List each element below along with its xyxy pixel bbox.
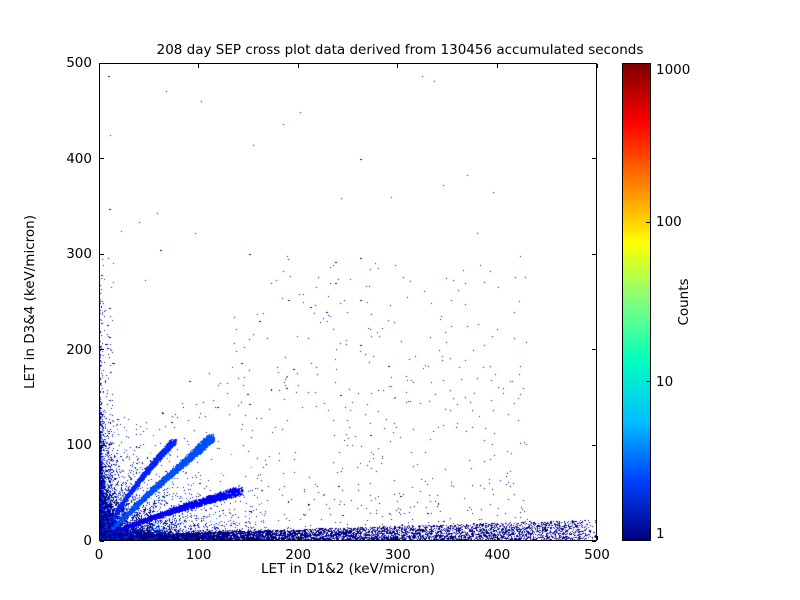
y-tick-mark-right bbox=[592, 63, 596, 64]
x-tick-mark-top bbox=[497, 64, 498, 68]
colorbar[interactable] bbox=[622, 63, 651, 541]
x-axis-label: LET in D1&2 (keV/micron) bbox=[99, 561, 597, 577]
colorbar-tick-label: 1 bbox=[656, 526, 665, 542]
colorbar-gradient bbox=[623, 64, 650, 540]
plot-title-line-1: 208 day SEP cross plot data derived from… bbox=[0, 42, 800, 59]
y-tick-mark bbox=[100, 158, 104, 159]
y-tick-mark bbox=[100, 349, 104, 350]
y-tick-mark-right bbox=[592, 254, 596, 255]
plot-area[interactable] bbox=[99, 63, 597, 541]
x-tick-mark bbox=[497, 536, 498, 540]
x-tick-mark-top bbox=[198, 64, 199, 68]
y-tick-label: 0 bbox=[83, 533, 92, 549]
y-tick-label: 100 bbox=[66, 437, 92, 453]
y-axis-label: LET in D3&4 (keV/micron) bbox=[22, 152, 38, 452]
figure-canvas: 208 day SEP cross plot data derived from… bbox=[0, 0, 800, 600]
colorbar-tick-mark bbox=[646, 381, 650, 382]
x-tick-mark-top bbox=[99, 64, 100, 68]
colorbar-tick-label: 1000 bbox=[656, 62, 690, 78]
y-tick-mark bbox=[100, 254, 104, 255]
y-tick-mark bbox=[100, 63, 104, 64]
y-tick-label: 400 bbox=[66, 151, 92, 167]
scatter-heatmap-layer bbox=[100, 64, 596, 540]
x-tick-mark-top bbox=[597, 64, 598, 68]
x-tick-mark bbox=[597, 536, 598, 540]
colorbar-tick-mark bbox=[646, 222, 650, 223]
x-tick-mark-top bbox=[397, 64, 398, 68]
x-tick-mark bbox=[99, 536, 100, 540]
y-tick-label: 300 bbox=[66, 246, 92, 262]
y-tick-mark-right bbox=[592, 541, 596, 542]
y-tick-mark bbox=[100, 445, 104, 446]
y-tick-mark-right bbox=[592, 349, 596, 350]
x-tick-mark-top bbox=[298, 64, 299, 68]
y-tick-mark bbox=[100, 541, 104, 542]
y-tick-mark-right bbox=[592, 158, 596, 159]
y-tick-mark-right bbox=[592, 445, 596, 446]
y-tick-label: 500 bbox=[66, 55, 92, 71]
colorbar-tick-label: 10 bbox=[656, 374, 673, 390]
x-tick-mark bbox=[198, 536, 199, 540]
x-tick-mark bbox=[397, 536, 398, 540]
colorbar-label: Counts bbox=[676, 202, 692, 402]
y-tick-label: 200 bbox=[66, 342, 92, 358]
x-tick-mark bbox=[298, 536, 299, 540]
